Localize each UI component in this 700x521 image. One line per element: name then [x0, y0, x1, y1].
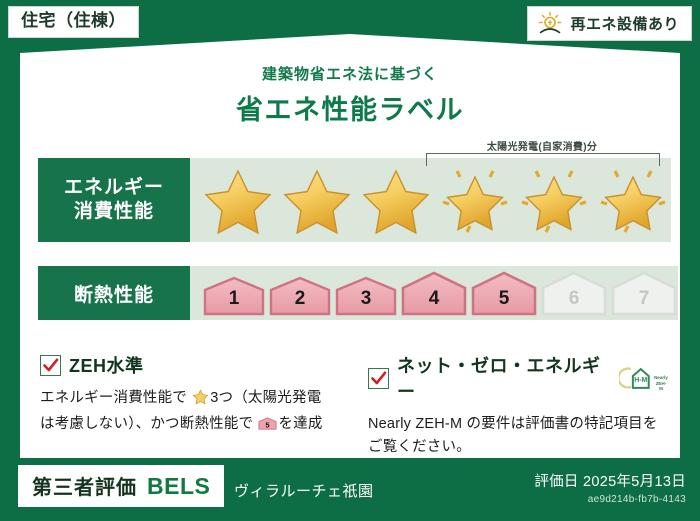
insulation-level-2: 2: [268, 276, 332, 316]
net-zero-title: ネット・ゼロ・エネルギー: [397, 352, 607, 404]
label-title-block: 建築物省エネ法に基づく 省エネ性能ラベル: [0, 63, 700, 127]
energy-stars-area: 太陽光発電(自家消費)分: [190, 158, 671, 242]
evaluation-date: 評価日 2025年5月13日: [534, 470, 686, 491]
insulation-level-4: 4: [400, 271, 468, 316]
zeh-desc-part1: エネルギー消費性能で: [40, 390, 187, 406]
title-subtitle: 建築物省エネ法に基づく: [0, 63, 700, 84]
insulation-level-6-number: 6: [540, 288, 608, 310]
third-party-eval-label: 第三者評価: [32, 471, 137, 500]
star-icon: [279, 164, 355, 236]
insulation-level-scale: 1 2 3 4: [190, 271, 678, 316]
net-zero-energy-block: ネット・ゼロ・エネルギー H-M Nearly ZEH-M Nearly ZEH…: [368, 352, 668, 459]
star-icon-inline: [192, 388, 209, 413]
zeh-m-logo-caption: Nearly ZEH-M: [654, 375, 668, 391]
insulation-label-text: 断熱性能: [74, 280, 154, 307]
zeh-standard-block: ZEH水準 エネルギー消費性能で 3つ（太陽光発電 は考慮しない）、かつ断熱性能…: [40, 352, 340, 439]
bels-logo-text: BELS: [147, 473, 210, 500]
sun-icon: [537, 11, 563, 35]
house-badge-icon-inline: 5: [258, 416, 277, 439]
insulation-level-5: 5: [470, 271, 538, 316]
checkbox-checked-icon: [368, 368, 389, 389]
star-solar-icon: [437, 164, 513, 236]
building-name: ヴィラルーチェ祇園: [234, 480, 374, 501]
net-zero-description: Nearly ZEH-M の要件は評価書の特記項目をご覧ください。: [368, 413, 668, 459]
insulation-level-1: 1: [202, 276, 266, 316]
insulation-level-5-number: 5: [470, 288, 538, 310]
energy-performance-label: エネルギー 消費性能: [38, 158, 190, 242]
zeh-desc-part2: は考慮しない）、かつ断熱性能で: [40, 416, 253, 432]
insulation-level-1-number: 1: [202, 288, 266, 310]
bels-plate: 第三者評価 BELS: [18, 465, 224, 507]
checkbox-checked-icon: [40, 355, 61, 376]
zeh-desc-part3: を達成: [278, 416, 322, 432]
renewable-badge-label: 再エネ設備あり: [570, 13, 679, 34]
insulation-level-6: 6: [540, 271, 608, 316]
solar-annotation-label: 太陽光発電(自家消費)分: [422, 138, 662, 153]
insulation-level-3-number: 3: [334, 288, 398, 310]
star-icon: [358, 164, 434, 236]
star-solar-icon: [516, 164, 592, 236]
svg-text:5: 5: [266, 420, 271, 429]
star-solar-icon: [595, 164, 671, 236]
page-title: 省エネ性能ラベル: [0, 88, 700, 127]
insulation-level-4-number: 4: [400, 288, 468, 310]
category-tab: 住宅（住棟）: [8, 6, 139, 38]
zeh-m-caption-line2: ZEH-M: [656, 381, 667, 391]
insulation-performance-row: 断熱性能 1 2: [38, 266, 663, 320]
insulation-level-7-number: 7: [610, 288, 678, 310]
insulation-level-7: 7: [610, 271, 678, 316]
star-rating: [190, 164, 671, 236]
category-tab-label: 住宅（住棟）: [21, 11, 126, 30]
star-icon: [200, 164, 276, 236]
solar-bracket: [426, 153, 660, 166]
insulation-performance-label: 断熱性能: [38, 266, 190, 320]
energy-label-line2: 消費性能: [74, 200, 154, 224]
energy-performance-row: エネルギー 消費性能 太陽光発電(自家消費)分: [38, 158, 663, 242]
zeh-m-house-icon: H-M: [619, 365, 653, 391]
evaluation-meta: 評価日 2025年5月13日 ae9d214b-fb7b-4143: [534, 470, 686, 505]
zeh-standard-description: エネルギー消費性能で 3つ（太陽光発電 は考慮しない）、かつ断熱性能で 5 を達…: [40, 387, 340, 439]
svg-text:H-M: H-M: [634, 377, 647, 384]
renewable-equipment-badge: 再エネ設備あり: [527, 6, 692, 41]
zeh-desc-star-count: 3つ（太陽光発電: [210, 390, 321, 406]
net-zero-heading: ネット・ゼロ・エネルギー H-M Nearly ZEH-M: [368, 352, 668, 404]
evaluation-id: ae9d214b-fb7b-4143: [534, 494, 686, 505]
zeh-m-logo: H-M Nearly ZEH-M: [619, 365, 668, 391]
energy-label-line1: エネルギー: [64, 176, 164, 200]
insulation-levels-area: 1 2 3 4: [190, 266, 678, 320]
insulation-level-2-number: 2: [268, 288, 332, 310]
insulation-level-3: 3: [334, 276, 398, 316]
zeh-standard-heading: ZEH水準: [40, 352, 340, 378]
zeh-standard-title: ZEH水準: [69, 352, 144, 378]
energy-label-root: 住宅（住棟） 再エネ設備あり 建築物省エネ法に基づく 省エネ性能ラベル: [0, 0, 700, 521]
